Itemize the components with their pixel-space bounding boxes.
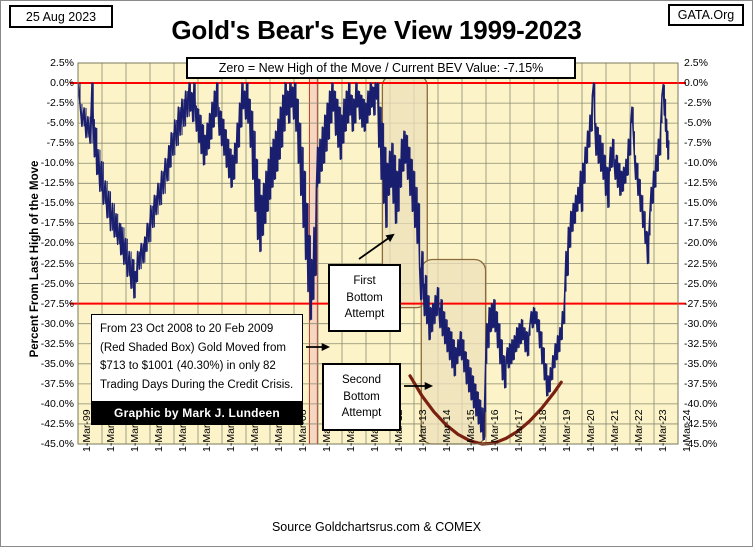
y-tick-label-right: -37.5% [684,379,736,390]
y-tick-label-left: -30.0% [22,319,74,330]
y-tick-label-left: -40.0% [22,399,74,410]
callout-line-2: Bottom [346,290,382,307]
x-tick-label: 1-Mar-14 [442,409,453,452]
x-tick-label: 1-Mar-20 [586,409,597,452]
x-tick-label: 1-Mar-19 [562,409,573,452]
y-tick-label-right: 0.0% [684,78,736,89]
annotation-block: From 23 Oct 2008 to 20 Feb 2009 (Red Sha… [91,314,303,425]
y-tick-label-left: -2.5% [22,98,74,109]
y-tick-label-left: -25.0% [22,279,74,290]
callout-line-1: First [353,273,375,290]
y-tick-label-left: -37.5% [22,379,74,390]
y-tick-label-left: -35.0% [22,359,74,370]
y-tick-label-right: -2.5% [684,98,736,109]
y-tick-label-left: -42.5% [22,419,74,430]
y-tick-label-left: -12.5% [22,178,74,189]
annotation-credit: Graphic by Mark J. Lundeen [91,402,303,425]
y-tick-label-left: 2.5% [22,58,74,69]
y-tick-label-right: -32.5% [684,339,736,350]
y-tick-label-right: 2.5% [684,58,736,69]
y-tick-label-left: -7.5% [22,138,74,149]
y-tick-label-right: -7.5% [684,138,736,149]
y-tick-label-right: -27.5% [684,299,736,310]
y-tick-label-right: -25.0% [684,279,736,290]
callout-line-2: Bottom [343,389,379,406]
callout-first-bottom-attempt: First Bottom Attempt [328,264,401,332]
y-tick-label-left: -22.5% [22,259,74,270]
subtitle-banner: Zero = New High of the Move / Current BE… [186,57,576,79]
y-tick-label-left: -32.5% [22,339,74,350]
callout-second-bottom-attempt: Second Bottom Attempt [322,363,401,431]
y-tick-label-left: -17.5% [22,218,74,229]
y-tick-label-right: -40.0% [684,399,736,410]
x-tick-label: 1-Mar-24 [682,409,693,452]
annotation-text: From 23 Oct 2008 to 20 Feb 2009 (Red Sha… [91,314,303,402]
x-tick-label: 1-Mar-16 [490,409,501,452]
x-tick-label: 1-Mar-23 [658,409,669,452]
y-tick-label-right: -12.5% [684,178,736,189]
y-tick-label-right: -17.5% [684,218,736,229]
callout-line-3: Attempt [345,306,385,323]
y-tick-label-right: -10.0% [684,158,736,169]
y-tick-label-left: -5.0% [22,118,74,129]
footer-source: Source Goldchartsrus.com & COMEX [1,520,752,534]
x-tick-label: 1-Mar-21 [610,409,621,452]
y-tick-label-right: -20.0% [684,238,736,249]
y-tick-label-left: -15.0% [22,198,74,209]
y-tick-label-left: 0.0% [22,78,74,89]
chart-page: 25 Aug 2023 GATA.Org Gold's Bear's Eye V… [0,0,753,547]
y-tick-label-right: -30.0% [684,319,736,330]
x-tick-label: 1-Mar-15 [466,409,477,452]
x-tick-label: 1-Mar-17 [514,409,525,452]
y-tick-label-right: -5.0% [684,118,736,129]
y-tick-label-left: -45.0% [22,439,74,450]
callout-line-3: Attempt [342,405,382,422]
x-tick-label: 1-Mar-22 [634,409,645,452]
x-tick-label: 1-Mar-18 [538,409,549,452]
y-tick-label-left: -27.5% [22,299,74,310]
y-tick-label-right: -15.0% [684,198,736,209]
y-tick-label-right: -35.0% [684,359,736,370]
y-tick-label-right: -22.5% [684,259,736,270]
callout-line-1: Second [342,372,381,389]
y-tick-label-left: -10.0% [22,158,74,169]
x-tick-label: 1-Mar-13 [418,409,429,452]
y-tick-label-left: -20.0% [22,238,74,249]
